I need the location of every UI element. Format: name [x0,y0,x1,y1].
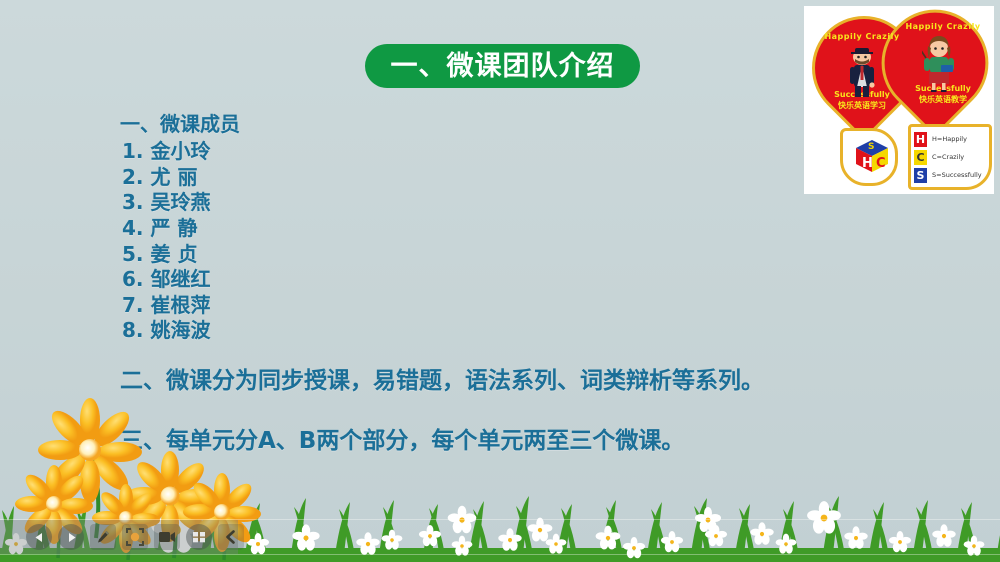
previous-icon [33,531,46,544]
brand-logo-card: Happily Crazily Successfully 快乐英语学习 Happ… [804,6,994,194]
pen-button[interactable] [90,524,116,550]
student-figure-icon [846,46,878,98]
list-item: 3. 吴玲燕 [122,186,210,215]
more-icon [192,531,206,543]
player-toolbar[interactable] [0,520,238,554]
list-item: 4. 严 静 [122,212,197,241]
hcs-cube-icon: H C S [852,136,892,176]
svg-text:C: C [876,156,886,171]
list-item: 6. 邹继红 [122,263,210,292]
legend-meaning-c: C=Crazily [932,153,964,161]
play-icon [65,531,78,544]
back-button[interactable] [218,524,244,550]
presentation-slide: 一、微课团队介绍 一、微课成员 1. 金小玲 2. 尤 丽 3. 吴玲燕 4. … [0,0,1000,562]
screenshot-icon [125,527,145,547]
pen-icon [95,529,111,545]
legend-meaning-h: H=Happily [932,135,967,143]
logo-left-chinese-text: 快乐英语学习 [816,100,908,111]
band-hairline-bottom [0,554,1000,555]
previous-slide-button[interactable] [26,524,52,550]
more-button[interactable] [186,524,212,550]
logo-right-chinese-text: 快乐英语教学 [896,94,990,105]
section-1-heading: 一、微课成员 [120,108,240,137]
legend-letter-c: C [914,150,927,165]
back-chevron-icon [223,529,239,545]
legend-row: C C=Crazily [914,148,990,166]
hcs-legend: H H=Happily C C=Crazily S S=Successfully [912,130,990,184]
list-item: 1. 金小玲 [122,135,210,164]
teacher-figure-icon [922,36,956,92]
screenshot-button[interactable] [122,524,148,550]
section-2-paragraph: 二、微课分为同步授课，易错题，语法系列、词类辩析等系列。 [120,361,764,395]
svg-text:S: S [868,142,874,152]
video-button[interactable] [154,524,180,550]
legend-letter-h: H [914,132,927,147]
legend-row: S S=Successfully [914,166,990,184]
svg-text:H: H [862,156,873,171]
logo-right-top-text: Happily Crazily [896,22,990,31]
legend-row: H H=Happily [914,130,990,148]
list-item: 8. 姚海波 [122,314,210,343]
legend-meaning-s: S=Successfully [932,171,982,179]
logo-left-top-text: Happily Crazily [816,32,908,41]
play-button[interactable] [58,524,84,550]
legend-letter-s: S [914,168,927,183]
video-icon [158,530,176,544]
